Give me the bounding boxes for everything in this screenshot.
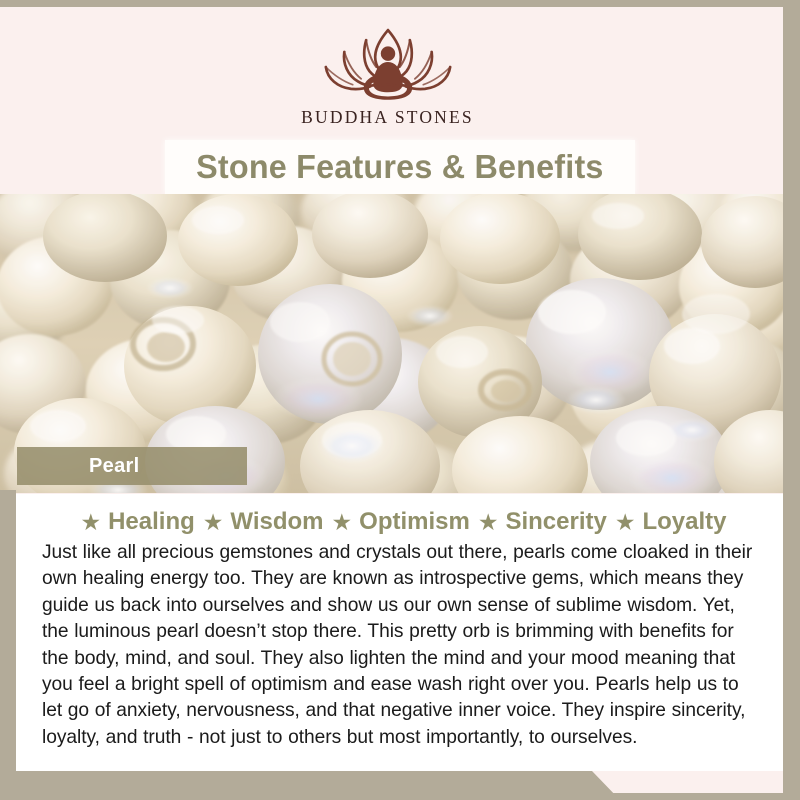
- benefit-label: Sincerity: [505, 508, 606, 536]
- left-accent-strip: [0, 490, 16, 800]
- stone-name-plate: Pearl: [17, 447, 247, 485]
- benefit-item: ★ Sincerity: [470, 508, 607, 536]
- benefit-item: ★ Optimism: [324, 508, 470, 536]
- infographic-page: BUDDHA STONES Stone Features & Benefits: [0, 0, 800, 800]
- page-title: Stone Features & Benefits: [196, 148, 603, 186]
- description-text: Just like all precious gemstones and cry…: [42, 540, 757, 751]
- star-icon: ★: [332, 511, 353, 534]
- star-icon: ★: [478, 511, 499, 534]
- lotus-meditation-icon: [303, 20, 473, 104]
- title-banner: Stone Features & Benefits: [165, 140, 635, 194]
- benefit-label: Wisdom: [230, 508, 323, 536]
- benefit-item: ★ Healing: [72, 508, 194, 536]
- brand-header: BUDDHA STONES: [0, 7, 783, 140]
- bottom-accent-bar: [0, 771, 620, 800]
- benefit-item: ★ Wisdom: [195, 508, 324, 536]
- description-card: ★ Healing ★ Wisdom ★ Optimism ★ Sincerit…: [16, 494, 783, 771]
- stone-name: Pearl: [89, 455, 139, 478]
- benefit-label: Optimism: [359, 508, 470, 536]
- benefit-label: Loyalty: [642, 508, 726, 536]
- star-icon: ★: [615, 511, 636, 534]
- star-icon: ★: [80, 511, 101, 534]
- brand-name: BUDDHA STONES: [301, 107, 474, 128]
- benefit-label: Healing: [108, 508, 195, 536]
- pearl-photo: Pearl: [0, 194, 783, 493]
- benefit-item: ★ Loyalty: [607, 508, 727, 536]
- star-icon: ★: [203, 511, 224, 534]
- benefits-list: ★ Healing ★ Wisdom ★ Optimism ★ Sincerit…: [42, 508, 757, 536]
- brand-logo: BUDDHA STONES: [263, 20, 513, 128]
